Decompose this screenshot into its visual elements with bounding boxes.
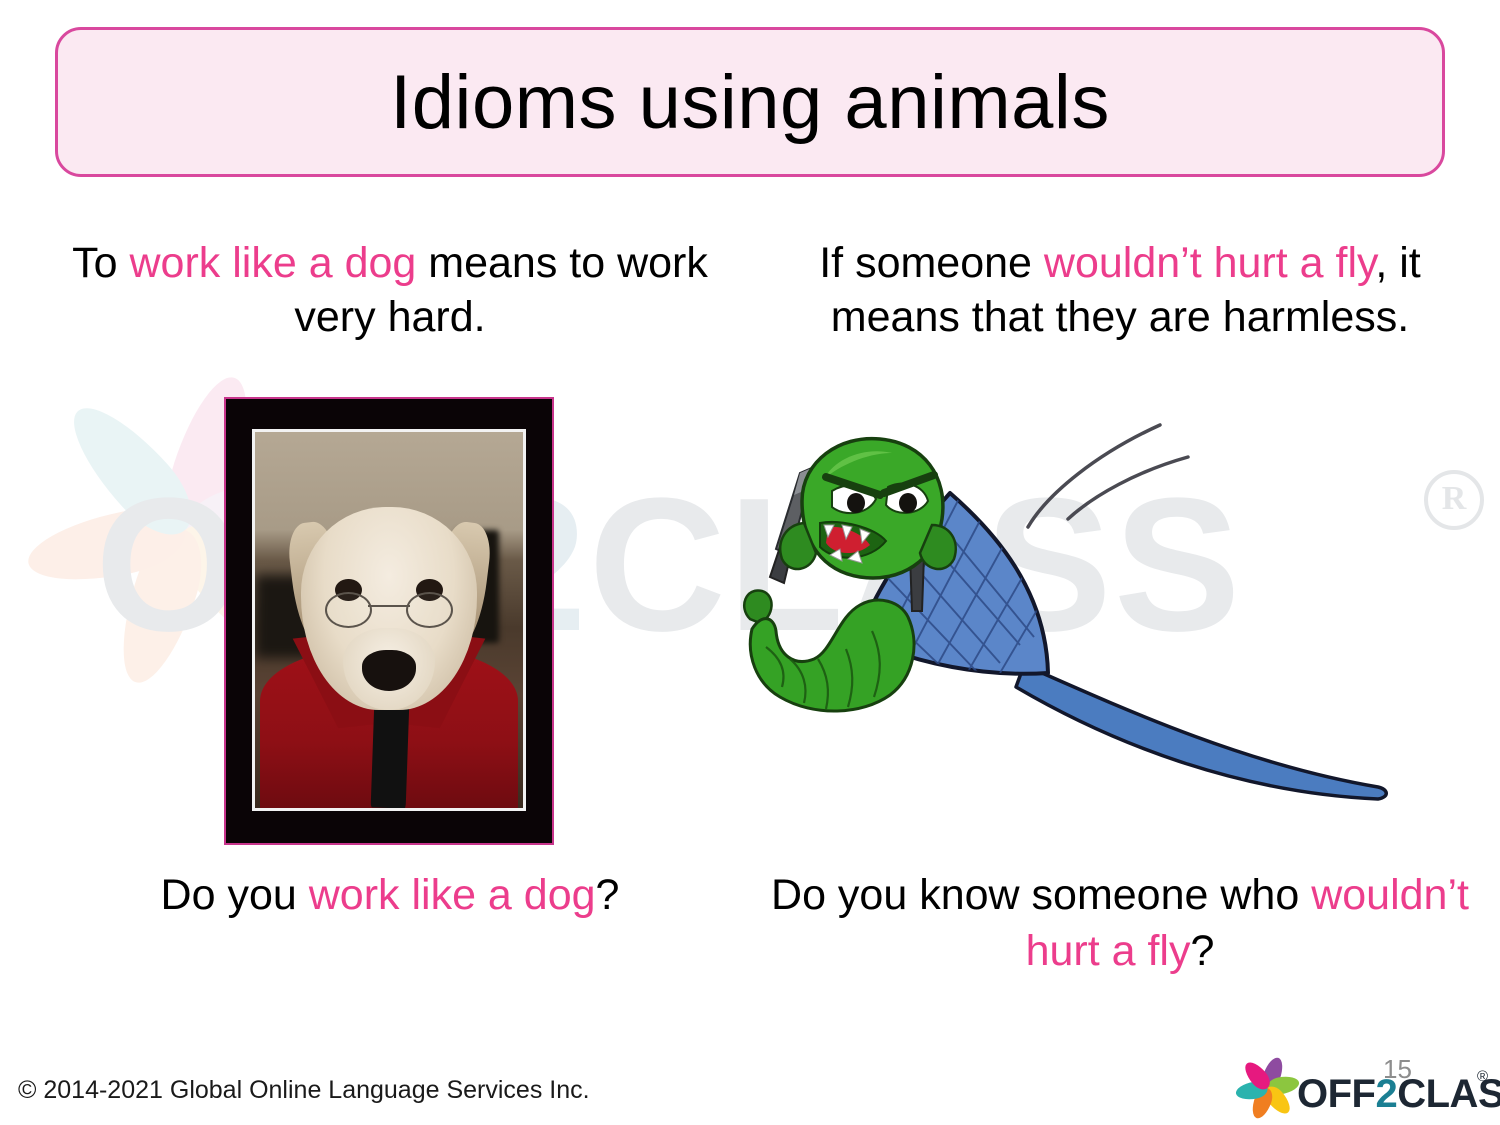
fly-swatter-and-bug-illustration [728, 415, 1438, 825]
caterpillar-body [744, 590, 914, 711]
right-definition-idiom: wouldn’t hurt a fly [1044, 239, 1375, 287]
glasses-lens-right [406, 592, 453, 628]
right-question-lead: Do you know someone who [771, 871, 1311, 919]
green-caterpillar-icon [744, 439, 956, 711]
dog-photo-frame [224, 397, 554, 845]
watermark-petal [55, 390, 208, 550]
right-question-tail: ? [1190, 927, 1214, 975]
left-question-tail: ? [596, 871, 620, 919]
motion-lines-icon [1028, 425, 1188, 527]
left-definition-idiom: work like a dog [130, 239, 417, 287]
off2class-pinwheel-icon [1235, 1058, 1299, 1118]
right-question-text: Do you know someone who wouldn’t hurt a … [770, 868, 1470, 980]
logo-word-off: OFF [1297, 1072, 1375, 1116]
off2class-logo: OFF2CLASS ® [1235, 1058, 1485, 1120]
page-number: 15 [1383, 1054, 1412, 1085]
right-idiom-column: If someone wouldn’t hurt a fly, it means… [770, 236, 1470, 344]
glasses-lens-left [325, 592, 372, 628]
copyright-text: © 2014-2021 Global Online Language Servi… [18, 1076, 590, 1105]
left-definition-text: To work like a dog means to work very ha… [40, 236, 740, 344]
left-definition-lead: To [72, 239, 129, 287]
left-question-lead: Do you [161, 871, 309, 919]
watermark-petal [22, 500, 191, 594]
right-definition-text: If someone wouldn’t hurt a fly, it means… [770, 236, 1470, 344]
slide-title-box: Idioms using animals [55, 27, 1445, 177]
glasses-bridge [368, 605, 411, 607]
swatter-handle [1016, 665, 1386, 799]
dog-photo [252, 429, 526, 811]
right-definition-lead: If someone [819, 239, 1044, 287]
logo-registered-icon: ® [1477, 1068, 1488, 1085]
left-question-text: Do you work like a dog? [40, 868, 740, 924]
left-idiom-column: To work like a dog means to work very ha… [40, 236, 740, 344]
page-title: Idioms using animals [390, 59, 1110, 146]
left-question-idiom: work like a dog [309, 871, 596, 919]
watermark-petal [106, 520, 214, 691]
